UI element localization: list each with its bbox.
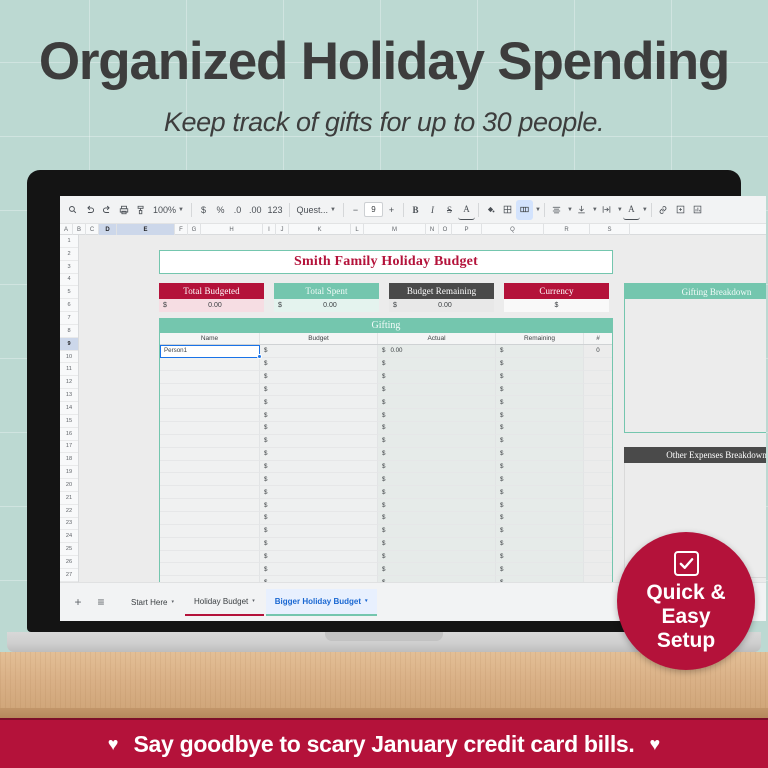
gifting-cell-remaining[interactable]: $: [496, 384, 584, 397]
column-header-l[interactable]: L: [351, 224, 364, 235]
gifting-cell-budget[interactable]: $: [260, 448, 378, 461]
gifting-cell-count[interactable]: [584, 538, 612, 551]
format-percent-button[interactable]: %: [212, 200, 229, 220]
chevron-down-icon[interactable]: ▼: [642, 207, 648, 213]
row-header-12[interactable]: 12: [60, 376, 78, 389]
search-icon[interactable]: [64, 200, 81, 220]
summary-cards: Total Budgeted$0.00Total Spent$0.00Budge…: [159, 283, 609, 312]
row-header-14[interactable]: 14: [60, 402, 78, 415]
chevron-down-icon[interactable]: ▼: [535, 207, 541, 213]
row-header-9[interactable]: 9: [60, 338, 78, 351]
font-family-value: Quest...: [297, 205, 329, 215]
heart-icon: ♥: [108, 734, 119, 755]
gifting-cell-remaining[interactable]: $: [496, 525, 584, 538]
gifting-table-title: Gifting: [160, 318, 612, 333]
gifting-cell-name[interactable]: [160, 358, 260, 371]
gifting-cell-remaining[interactable]: $: [496, 461, 584, 474]
column-header-d[interactable]: D: [99, 224, 117, 235]
gifting-cell-actual[interactable]: $: [378, 486, 496, 499]
gifting-cell-budget[interactable]: $: [260, 345, 378, 358]
gifting-cell-budget[interactable]: $: [260, 563, 378, 576]
row-header-19[interactable]: 19: [60, 466, 78, 479]
gifting-cell-budget[interactable]: $: [260, 551, 378, 564]
currency-symbol: $: [264, 399, 267, 406]
insert-comment-icon[interactable]: [672, 200, 689, 220]
gifting-cell-actual[interactable]: $: [378, 461, 496, 474]
row-header-11[interactable]: 11: [60, 363, 78, 376]
gifting-cell-budget[interactable]: $: [260, 499, 378, 512]
more-formats-button[interactable]: 123: [265, 200, 286, 220]
toolbar-divider: [343, 203, 344, 217]
currency-symbol: $: [382, 412, 385, 419]
badge-line-2: Easy: [661, 605, 710, 628]
row-header-22[interactable]: 22: [60, 505, 78, 518]
sheet-tab-bigger-holiday-budget[interactable]: Bigger Holiday Budget▾: [266, 589, 377, 616]
text-rotation-button[interactable]: A: [623, 200, 640, 220]
zoom-level-selector[interactable]: 100% ▼: [149, 200, 188, 220]
gifting-cell-count[interactable]: [584, 358, 612, 371]
column-header-h[interactable]: H: [201, 224, 263, 235]
column-header-e[interactable]: E: [117, 224, 175, 235]
paint-format-icon[interactable]: [132, 200, 149, 220]
gifting-cell-actual[interactable]: $: [378, 499, 496, 512]
gifting-column-headers: NameBudgetActualRemaining#: [160, 333, 612, 345]
currency-symbol: $: [264, 489, 267, 496]
toolbar-divider: [191, 203, 192, 217]
gifting-cell-remaining[interactable]: $: [496, 396, 584, 409]
gifting-cell-name[interactable]: [160, 538, 260, 551]
row-header-1[interactable]: 1: [60, 235, 78, 248]
gifting-cell-budget[interactable]: $: [260, 525, 378, 538]
currency-symbol: $: [500, 476, 503, 483]
gifting-cell-remaining[interactable]: $: [496, 563, 584, 576]
column-header-i[interactable]: I: [263, 224, 276, 235]
gifting-cell-remaining[interactable]: $: [496, 448, 584, 461]
currency-symbol: $: [555, 302, 559, 309]
currency-symbol: $: [264, 566, 267, 573]
summary-card-value-currency[interactable]: $: [504, 299, 609, 312]
gifting-cell-remaining[interactable]: $: [496, 473, 584, 486]
currency-symbol: $: [382, 424, 385, 431]
column-header-o[interactable]: O: [439, 224, 452, 235]
strikethrough-button[interactable]: S: [441, 200, 458, 220]
currency-symbol: $: [264, 412, 267, 419]
sheet-tab-holiday-budget[interactable]: Holiday Budget▾: [185, 589, 264, 616]
chevron-down-icon: ▼: [178, 207, 184, 213]
gifting-cell-actual[interactable]: $: [378, 473, 496, 486]
gifting-cell-budget[interactable]: $: [260, 422, 378, 435]
sheet-tabs: Start Here▾Holiday Budget▾Bigger Holiday…: [122, 589, 377, 616]
currency-symbol: $: [264, 540, 267, 547]
currency-symbol: $: [163, 302, 167, 309]
toolbar-divider: [403, 203, 404, 217]
currency-symbol: $: [382, 463, 385, 470]
chevron-down-icon[interactable]: ▼: [592, 207, 598, 213]
column-header-b[interactable]: B: [73, 224, 86, 235]
currency-symbol: $: [500, 424, 503, 431]
sheet-title-cell[interactable]: Smith Family Holiday Budget: [159, 250, 613, 274]
currency-symbol: $: [264, 437, 267, 444]
gifting-table-row: $$$: [160, 358, 612, 371]
font-size-input[interactable]: 9: [364, 202, 383, 217]
gifting-cell-remaining[interactable]: $: [496, 409, 584, 422]
chevron-down-icon[interactable]: ▾: [252, 598, 255, 604]
text-color-button[interactable]: A: [458, 200, 475, 220]
format-currency-button[interactable]: $: [195, 200, 212, 220]
sheet-tab-label: Bigger Holiday Budget: [275, 597, 361, 606]
currency-symbol: $: [382, 489, 385, 496]
column-header-m[interactable]: M: [364, 224, 426, 235]
gifting-cell-remaining[interactable]: $: [496, 499, 584, 512]
gifting-cell-name[interactable]: [160, 461, 260, 474]
chevron-down-icon: ▼: [330, 207, 336, 213]
summary-card-total-budgeted: Total Budgeted$0.00: [159, 283, 264, 312]
other-expenses-breakdown-title: Other Expenses Breakdown: [624, 447, 766, 463]
gifting-cell-count[interactable]: [584, 473, 612, 486]
gifting-cell-budget[interactable]: $: [260, 371, 378, 384]
gifting-column-header-remaining: Remaining: [496, 333, 584, 344]
currency-symbol: $: [264, 463, 267, 470]
row-header-18[interactable]: 18: [60, 453, 78, 466]
gifting-cell-actual[interactable]: $: [378, 551, 496, 564]
gifting-cell-actual[interactable]: $: [378, 422, 496, 435]
currency-symbol: $: [264, 514, 267, 521]
gifting-cell-actual[interactable]: $: [378, 371, 496, 384]
gifting-cell-count[interactable]: [584, 461, 612, 474]
gifting-cell-actual[interactable]: $: [378, 512, 496, 525]
column-header-g[interactable]: G: [188, 224, 201, 235]
gifting-cell-name[interactable]: [160, 473, 260, 486]
gifting-cell-count[interactable]: [584, 396, 612, 409]
currency-symbol: $: [500, 502, 503, 509]
gifting-cell-count[interactable]: 0: [584, 345, 612, 358]
currency-symbol: $: [500, 360, 503, 367]
gifting-cell-budget[interactable]: $: [260, 384, 378, 397]
gifting-cell-count[interactable]: [584, 551, 612, 564]
horizontal-align-icon[interactable]: [548, 200, 565, 220]
gifting-cell-remaining[interactable]: $: [496, 371, 584, 384]
gifting-cell-actual[interactable]: $: [378, 384, 496, 397]
gifting-cell-count[interactable]: [584, 435, 612, 448]
increase-decimal-button[interactable]: .00: [246, 200, 265, 220]
row-header-7[interactable]: 7: [60, 312, 78, 325]
gifting-cell-name[interactable]: [160, 448, 260, 461]
gifting-cell-remaining[interactable]: $: [496, 358, 584, 371]
gifting-table-row: $$$: [160, 435, 612, 448]
row-header-3[interactable]: 3: [60, 261, 78, 274]
increase-font-size-button[interactable]: +: [383, 200, 400, 220]
currency-symbol: $: [264, 476, 267, 483]
gifting-cell-name[interactable]: [160, 409, 260, 422]
row-header-8[interactable]: 8: [60, 325, 78, 338]
row-header-20[interactable]: 20: [60, 479, 78, 492]
gifting-cell-count[interactable]: [584, 499, 612, 512]
row-header-16[interactable]: 16: [60, 428, 78, 441]
currency-symbol: $: [264, 347, 267, 354]
toolbar-divider: [478, 203, 479, 217]
page-subtitle: Keep track of gifts for up to 30 people.: [0, 104, 768, 140]
summary-card-title-total-budgeted: Total Budgeted: [159, 283, 264, 299]
gifting-table: Gifting NameBudgetActualRemaining# Perso…: [159, 318, 613, 582]
currency-symbol: $: [382, 360, 385, 367]
column-header-bar: ABCDEFGHIJKLMNOPQRS: [60, 224, 766, 235]
row-header-bar: 1234567891011121314151617181920212223242…: [60, 235, 79, 582]
gifting-cell-count[interactable]: [584, 563, 612, 576]
gifting-cell-remaining[interactable]: $: [496, 345, 584, 358]
undo-icon[interactable]: [81, 200, 98, 220]
row-header-26[interactable]: 26: [60, 556, 78, 569]
summary-card-title-total-spent: Total Spent: [274, 283, 379, 299]
gifting-cell-actual[interactable]: $: [378, 396, 496, 409]
merge-cells-icon[interactable]: [516, 200, 533, 220]
gifting-column-header-budget: Budget: [260, 333, 378, 344]
row-header-6[interactable]: 6: [60, 299, 78, 312]
desk-edge: [0, 708, 768, 718]
currency-symbol: $: [393, 302, 397, 309]
gifting-table-row: $$$: [160, 499, 612, 512]
gifting-cell-actual[interactable]: $: [378, 563, 496, 576]
currency-symbol: $: [382, 502, 385, 509]
row-header-23[interactable]: 23: [60, 518, 78, 531]
currency-symbol: $: [500, 553, 503, 560]
currency-symbol: $: [500, 373, 503, 380]
banner-text: Say goodbye to scary January credit card…: [133, 731, 634, 758]
currency-symbol: $: [264, 502, 267, 509]
row-header-27[interactable]: 27: [60, 569, 78, 582]
gifting-cell-name[interactable]: [160, 396, 260, 409]
gifting-cell-name[interactable]: [160, 563, 260, 576]
chevron-down-icon[interactable]: ▾: [171, 599, 174, 605]
currency-symbol: $: [500, 540, 503, 547]
gifting-cell-actual[interactable]: $: [378, 538, 496, 551]
fill-color-icon[interactable]: [482, 200, 499, 220]
chevron-down-icon[interactable]: ▼: [617, 207, 623, 213]
gifting-cell-actual[interactable]: $: [378, 358, 496, 371]
column-header-p[interactable]: P: [452, 224, 482, 235]
page-title: Organized Holiday Spending: [0, 32, 768, 92]
text-wrap-icon[interactable]: [598, 200, 615, 220]
gifting-cell-count[interactable]: [584, 525, 612, 538]
vertical-align-icon[interactable]: [573, 200, 590, 220]
currency-symbol: $: [382, 553, 385, 560]
column-header-a[interactable]: A: [60, 224, 73, 235]
gifting-cell-budget[interactable]: $: [260, 486, 378, 499]
insert-chart-icon[interactable]: [689, 200, 706, 220]
gifting-cell-actual[interactable]: $: [378, 525, 496, 538]
gifting-cell-budget[interactable]: $: [260, 461, 378, 474]
print-icon[interactable]: [115, 200, 132, 220]
gifting-table-row: $$$: [160, 525, 612, 538]
row-header-15[interactable]: 15: [60, 415, 78, 428]
currency-symbol: $: [382, 399, 385, 406]
gifting-cell-count[interactable]: [584, 486, 612, 499]
gifting-cell-count[interactable]: [584, 448, 612, 461]
gifting-cell-budget[interactable]: $: [260, 409, 378, 422]
column-header-r[interactable]: R: [544, 224, 590, 235]
gifting-table-row: Person1$$0.00$0: [160, 345, 612, 358]
amount-value: 0.00: [390, 347, 402, 354]
row-header-21[interactable]: 21: [60, 492, 78, 505]
row-header-2[interactable]: 2: [60, 248, 78, 261]
gifting-cell-remaining[interactable]: $: [496, 422, 584, 435]
gifting-breakdown-chart-area: [625, 299, 766, 432]
gifting-column-header-actual: Actual: [378, 333, 496, 344]
currency-symbol: $: [264, 386, 267, 393]
sheet-tab-label: Start Here: [131, 598, 167, 607]
gifting-cell-name[interactable]: Person1: [160, 345, 260, 358]
gifting-cell-remaining[interactable]: $: [496, 435, 584, 448]
currency-symbol: $: [382, 373, 385, 380]
currency-symbol: $: [264, 373, 267, 380]
fill-handle[interactable]: [257, 354, 262, 359]
italic-button[interactable]: I: [424, 200, 441, 220]
currency-symbol: $: [382, 476, 385, 483]
currency-symbol: $: [500, 463, 503, 470]
currency-symbol: $: [382, 566, 385, 573]
amount-value: 0.00: [400, 302, 490, 309]
decrease-decimal-button[interactable]: .0: [229, 200, 246, 220]
gifting-column-header-name: Name: [160, 333, 260, 344]
gifting-cell-name[interactable]: [160, 525, 260, 538]
gifting-cell-remaining[interactable]: $: [496, 486, 584, 499]
summary-card-value-total-budgeted[interactable]: $0.00: [159, 299, 264, 312]
gifting-column-header-count: #: [584, 333, 612, 344]
column-header-c[interactable]: C: [86, 224, 99, 235]
column-header-n[interactable]: N: [426, 224, 439, 235]
gifting-table-row: $$$: [160, 512, 612, 525]
gifting-cell-count[interactable]: [584, 371, 612, 384]
summary-card-value-budget-remaining[interactable]: $0.00: [389, 299, 494, 312]
currency-symbol: $: [500, 450, 503, 457]
gifting-cell-name[interactable]: [160, 486, 260, 499]
gifting-cell-name[interactable]: [160, 499, 260, 512]
currency-symbol: $: [264, 424, 267, 431]
currency-symbol: $: [500, 514, 503, 521]
summary-card-value-total-spent[interactable]: $0.00: [274, 299, 379, 312]
toolbar-divider: [651, 203, 652, 217]
gifting-breakdown-title: Gifting Breakdown: [625, 284, 766, 299]
summary-card-budget-remaining: Budget Remaining$0.00: [389, 283, 494, 312]
currency-symbol: $: [382, 450, 385, 457]
font-family-selector[interactable]: Quest... ▼: [293, 200, 340, 220]
currency-symbol: $: [500, 347, 503, 354]
gifting-table-row: $$$: [160, 486, 612, 499]
gifting-cell-name[interactable]: [160, 435, 260, 448]
gifting-table-row: $$$: [160, 409, 612, 422]
quick-easy-setup-badge: Quick & Easy Setup: [617, 532, 755, 670]
summary-card-currency: Currency$: [504, 283, 609, 312]
column-header-j[interactable]: J: [276, 224, 289, 235]
row-header-4[interactable]: 4: [60, 274, 78, 287]
redo-icon[interactable]: [98, 200, 115, 220]
column-header-s[interactable]: S: [590, 224, 630, 235]
gifting-table-row: $$$: [160, 563, 612, 576]
gifting-cell-remaining[interactable]: $: [496, 512, 584, 525]
add-sheet-icon[interactable]: +: [68, 592, 88, 612]
gifting-cell-count[interactable]: [584, 422, 612, 435]
zoom-level-value: 100%: [153, 205, 176, 215]
currency-symbol: $: [264, 553, 267, 560]
amount-value: 0.00: [170, 302, 260, 309]
gifting-cell-budget[interactable]: $: [260, 512, 378, 525]
column-header-k[interactable]: K: [289, 224, 351, 235]
gifting-cell-count[interactable]: [584, 409, 612, 422]
row-header-24[interactable]: 24: [60, 530, 78, 543]
row-header-5[interactable]: 5: [60, 286, 78, 299]
toolbar-divider: [289, 203, 290, 217]
gifting-cell-name[interactable]: [160, 384, 260, 397]
gifting-table-body: Person1$$0.00$0$$$$$$$$$$$$$$$$$$$$$$$$$…: [160, 345, 612, 582]
gifting-table-row: $$$: [160, 551, 612, 564]
currency-symbol: $: [278, 302, 282, 309]
decrease-font-size-button[interactable]: −: [347, 200, 364, 220]
row-header-10[interactable]: 10: [60, 351, 78, 364]
checkbox-check-icon: [674, 551, 699, 576]
currency-symbol: $: [382, 527, 385, 534]
insert-link-icon[interactable]: [655, 200, 672, 220]
column-header-f[interactable]: F: [175, 224, 188, 235]
gifting-cell-budget[interactable]: $: [260, 473, 378, 486]
row-header-17[interactable]: 17: [60, 441, 78, 454]
gifting-cell-name[interactable]: [160, 551, 260, 564]
sheet-tab-start-here[interactable]: Start Here▾: [122, 589, 183, 616]
summary-card-title-budget-remaining: Budget Remaining: [389, 283, 494, 299]
gifting-cell-remaining[interactable]: $: [496, 551, 584, 564]
gifting-breakdown-panel: Gifting Breakdown: [624, 283, 766, 433]
gifting-cell-count[interactable]: [584, 384, 612, 397]
gifting-cell-remaining[interactable]: $: [496, 538, 584, 551]
all-sheets-menu-icon[interactable]: ≡: [91, 592, 111, 612]
summary-card-title-currency: Currency: [504, 283, 609, 299]
sheet-tab-label: Holiday Budget: [194, 597, 248, 606]
currency-symbol: $: [500, 437, 503, 444]
gifting-cell-count[interactable]: [584, 512, 612, 525]
toolbar-divider: [544, 203, 545, 217]
gifting-cell-budget[interactable]: $: [260, 435, 378, 448]
chevron-down-icon[interactable]: ▾: [365, 598, 368, 604]
column-header-q[interactable]: Q: [482, 224, 544, 235]
badge-line-1: Quick &: [646, 581, 725, 604]
currency-symbol: $: [382, 514, 385, 521]
currency-symbol: $: [500, 527, 503, 534]
currency-symbol: $: [500, 412, 503, 419]
gifting-cell-name[interactable]: [160, 422, 260, 435]
gifting-cell-actual[interactable]: $: [378, 435, 496, 448]
bottom-banner: ♥ Say goodbye to scary January credit ca…: [0, 718, 768, 768]
gifting-cell-actual[interactable]: $0.00: [378, 345, 496, 358]
gifting-cell-name[interactable]: [160, 512, 260, 525]
gifting-table-row: $$$: [160, 538, 612, 551]
gifting-cell-budget[interactable]: $: [260, 358, 378, 371]
row-header-13[interactable]: 13: [60, 389, 78, 402]
bold-button[interactable]: B: [407, 200, 424, 220]
currency-symbol: $: [500, 399, 503, 406]
currency-symbol: $: [264, 527, 267, 534]
gifting-cell-budget[interactable]: $: [260, 538, 378, 551]
gifting-cell-name[interactable]: [160, 371, 260, 384]
gifting-cell-actual[interactable]: $: [378, 409, 496, 422]
gifting-cell-budget[interactable]: $: [260, 396, 378, 409]
row-header-25[interactable]: 25: [60, 543, 78, 556]
gifting-cell-actual[interactable]: $: [378, 448, 496, 461]
spreadsheet-toolbar: 100% ▼ $ % .0 .00 123 Quest... ▼ − 9 + B…: [60, 196, 766, 224]
currency-symbol: $: [382, 347, 385, 354]
gifting-table-row: $$$: [160, 396, 612, 409]
borders-icon[interactable]: [499, 200, 516, 220]
currency-symbol: $: [500, 386, 503, 393]
currency-symbol: $: [382, 437, 385, 444]
currency-symbol: $: [500, 489, 503, 496]
